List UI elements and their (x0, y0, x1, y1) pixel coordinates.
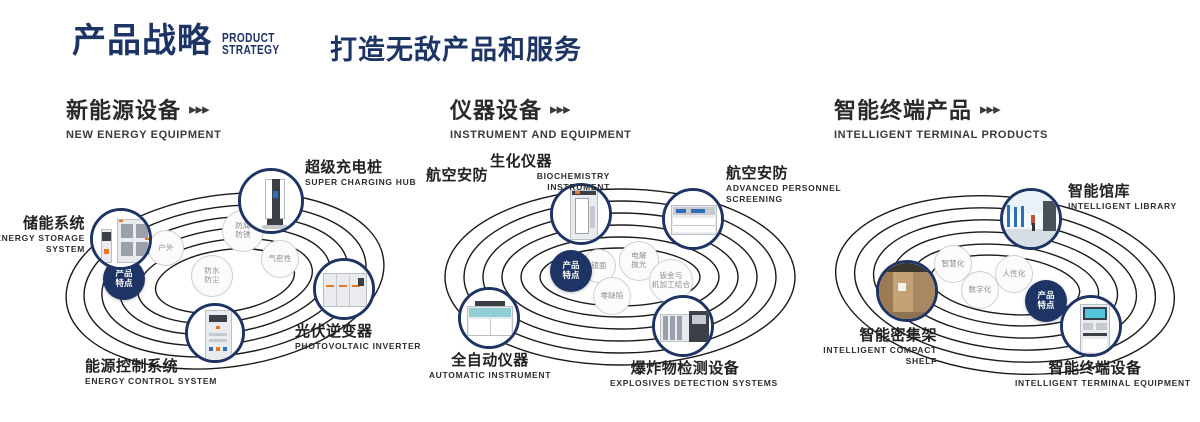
core-line2: 特点 (1037, 301, 1054, 311)
charging-pile-art (241, 171, 301, 231)
node-label-energy-storage-system: 储能系统 ENERGY STORAGE SYSTEM (0, 215, 85, 255)
section-title-en: INTELLIGENT TERMINAL PRODUCTS (834, 129, 1048, 141)
node-label-biochemistry-instrument: 生化仪器 BIOCHEMISTRY INSTRUMENT (490, 153, 610, 193)
cluster-instrument: 镜面 电解 抛光 钣金与 机加工结合 零缺陷 产品特点 航空安防 生化仪器 BI… (430, 155, 810, 405)
feature-bubble: 防水 防尘 (191, 255, 233, 297)
section-title-cn: 仪器设备 (450, 93, 542, 125)
feature-bubble: 数字化 (961, 271, 999, 309)
node-label-intelligent-compact-shelf: 智能密集架 INTELLIGENT COMPACT SHELF (772, 327, 937, 367)
page-title-en-line2: STRATEGY (222, 44, 280, 56)
biochem-scanner-art (553, 186, 609, 242)
feature-bubble: 人性化 (995, 255, 1033, 293)
feature-bubble: 零缺陷 (593, 277, 631, 315)
node-super-charging-hub[interactable] (238, 168, 304, 234)
chevron-right-icon: ▸▸▸ (550, 100, 570, 118)
cluster-new-energy: 户外 防腐 防锈 防水 防尘 气密性 产品特点 储能系统 (55, 155, 415, 405)
section-title-en: INSTRUMENT AND EQUIPMENT (450, 129, 631, 141)
chevron-right-icon: ▸▸▸ (980, 100, 1000, 118)
core-bubble-product-features: 产品特点 (550, 250, 592, 292)
node-label-photovoltaic-inverter: 光伏逆变器 PHOTOVOLTAIC INVERTER (295, 323, 435, 352)
compact-shelf-art (879, 263, 935, 319)
node-explosives-detection-systems[interactable] (652, 295, 714, 357)
node-intelligent-terminal-equipment[interactable] (1060, 295, 1122, 357)
core-line1: 产品 (562, 261, 579, 271)
core-line1: 产品 (1037, 291, 1054, 301)
node-automatic-instrument[interactable] (458, 287, 520, 349)
node-photovoltaic-inverter[interactable] (313, 258, 375, 320)
node-energy-storage-system[interactable] (90, 208, 152, 270)
section-title-new-energy: 新能源设备▸▸▸ NEW ENERGY EQUIPMENT (66, 93, 221, 141)
cluster-intelligent-terminal: 智慧化 数字化 人性化 产品特点 智能馆库 INTELLIGENT LIBRA (820, 155, 1200, 405)
feature-bubble: 户外 (148, 230, 184, 266)
section-title-cn: 智能终端产品 (834, 93, 972, 125)
page-header: 产品战略 PRODUCT STRATEGY (72, 24, 296, 58)
explosives-detector-art (655, 298, 711, 354)
chevron-right-icon: ▸▸▸ (189, 100, 209, 118)
section-title-cn: 新能源设备 (66, 93, 181, 125)
node-label-energy-control-system: 能源控制系统 ENERGY CONTROL SYSTEM (85, 358, 255, 387)
page-subtitle: 打造无敌产品和服务 (330, 28, 582, 67)
core-line2: 特点 (562, 271, 579, 281)
node-advanced-personnel-screening[interactable] (662, 188, 724, 250)
page-title-en: PRODUCT STRATEGY (222, 32, 280, 56)
node-label-intelligent-terminal-equipment: 智能终端设备 INTELLIGENT TERMINAL EQUIPMENT (1015, 360, 1175, 389)
screening-machine-art (665, 191, 721, 247)
section-title-instrument: 仪器设备▸▸▸ INSTRUMENT AND EQUIPMENT (450, 93, 631, 141)
node-label-intelligent-library: 智能馆库 INTELLIGENT LIBRARY (1068, 183, 1200, 212)
core-line1: 产品 (115, 269, 132, 279)
node-label-automatic-instrument: 全自动仪器 AUTOMATIC INSTRUMENT (420, 352, 560, 381)
pv-inverter-art (316, 261, 372, 317)
library-interior-art (1003, 191, 1059, 247)
node-intelligent-compact-shelf[interactable] (876, 260, 938, 322)
automatic-analyzer-art (461, 290, 517, 346)
self-service-kiosk-art (1063, 298, 1119, 354)
node-intelligent-library[interactable] (1000, 188, 1062, 250)
energy-storage-cabinet-art (93, 211, 149, 267)
section-title-intelligent-terminal: 智能终端产品▸▸▸ INTELLIGENT TERMINAL PRODUCTS (834, 93, 1048, 141)
section-title-en: NEW ENERGY EQUIPMENT (66, 129, 221, 141)
core-line2: 特点 (115, 279, 132, 289)
page-title-cn: 产品战略 (72, 24, 212, 58)
product-strategy-infographic: 产品战略 PRODUCT STRATEGY 打造无敌产品和服务 新能源设备▸▸▸… (0, 0, 1200, 422)
feature-bubble: 气密性 (261, 240, 299, 278)
node-energy-control-system[interactable] (185, 303, 245, 363)
control-cabinet-art (188, 306, 242, 360)
node-label-aviation-security-left: 航空安防 (398, 167, 488, 184)
node-label-explosives-detection-systems: 爆炸物检测设备 EXPLOSIVES DETECTION SYSTEMS (610, 360, 760, 389)
